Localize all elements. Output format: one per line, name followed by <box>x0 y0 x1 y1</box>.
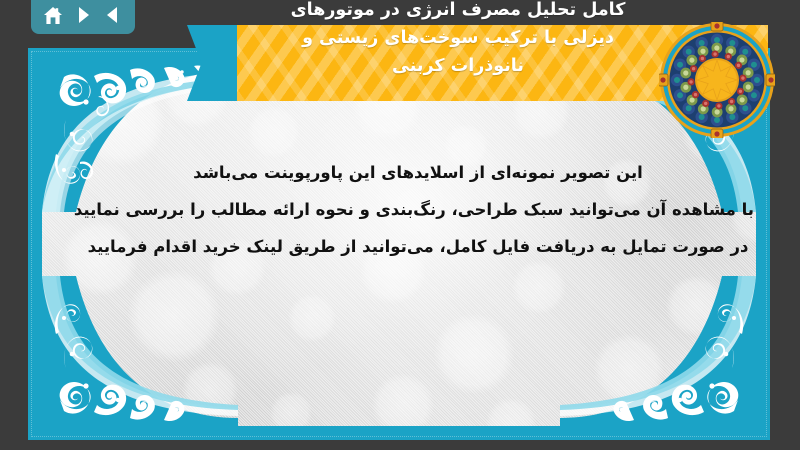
body-line: با مشاهده آن می‌توانید سبک طراحی، رنگ‌بن… <box>82 191 754 228</box>
bokeh-circle <box>714 348 756 394</box>
bokeh-circle <box>270 392 312 426</box>
home-button[interactable] <box>40 2 66 28</box>
home-icon <box>43 6 63 25</box>
slide-body-text: این تصویر نمونه‌ای از اسلایدهای این پاور… <box>82 154 754 265</box>
body-line: این تصویر نمونه‌ای از اسلایدهای این پاور… <box>82 154 754 191</box>
back-arrow-icon <box>104 6 122 24</box>
bokeh-circle <box>248 106 300 158</box>
bokeh-circle <box>512 260 566 314</box>
bokeh-circle <box>434 314 514 394</box>
forward-arrow-icon <box>74 6 92 24</box>
bokeh-circle <box>288 294 336 342</box>
slide-nav-panel <box>31 0 135 34</box>
bokeh-circle <box>634 400 678 426</box>
bokeh-circle <box>594 334 664 404</box>
previous-slide-button[interactable] <box>100 2 126 28</box>
islamic-medallion-icon <box>659 22 775 138</box>
bokeh-circle <box>666 276 726 336</box>
arabesque-corner-icon <box>560 276 756 426</box>
slide-canvas: این تصویر نمونه‌ای از اسلایدهای این پاور… <box>42 62 756 426</box>
slide-viewer: این تصویر نمونه‌ای از اسلایدهای این پاور… <box>0 0 800 450</box>
bokeh-circle <box>46 330 114 398</box>
arabesque-corner-icon <box>42 276 238 426</box>
next-slide-button[interactable] <box>70 2 96 28</box>
bokeh-circle <box>182 362 238 418</box>
bokeh-circle <box>128 270 220 362</box>
body-line: در صورت تمایل به دریافت فایل کامل، می‌تو… <box>82 228 754 265</box>
bokeh-circle <box>372 374 434 426</box>
bokeh-circle <box>486 398 536 426</box>
